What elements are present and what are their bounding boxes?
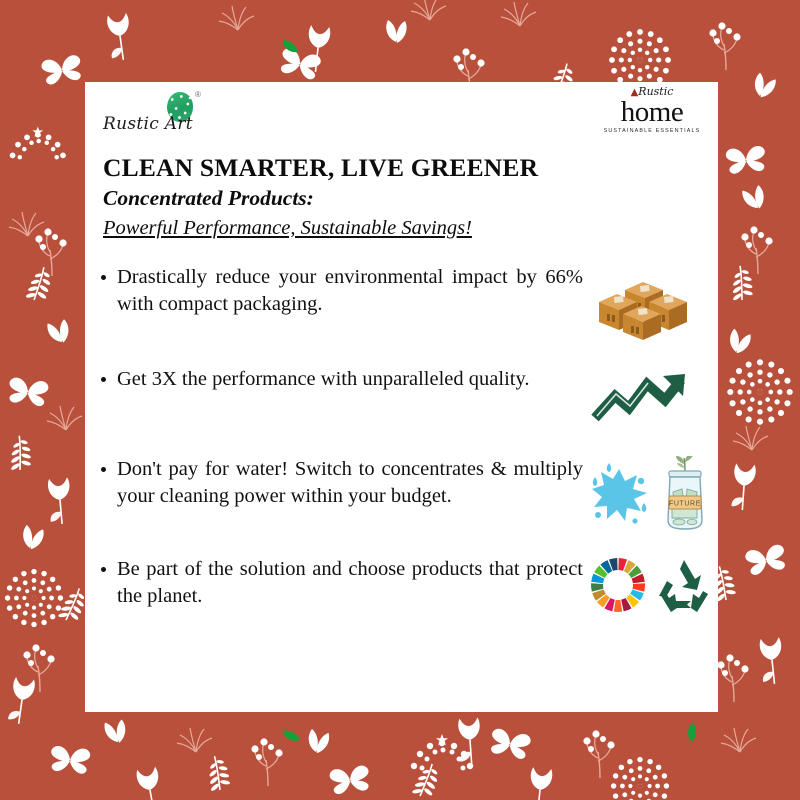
- logo-row: ® Rustic Art ▲Rustic home SUSTAINABLE ES…: [85, 82, 718, 148]
- bullet-dot-icon: [101, 567, 106, 572]
- bullet-text-wrap: Get 3X the performance with unparalleled…: [95, 366, 583, 394]
- poster-canvas: ® Rustic Art ▲Rustic home SUSTAINABLE ES…: [0, 0, 800, 800]
- bullet-text-wrap: Drastically reduce your environmental im…: [95, 264, 583, 320]
- content-card: ® Rustic Art ▲Rustic home SUSTAINABLE ES…: [85, 82, 718, 712]
- bullet-dot-icon: [101, 467, 106, 472]
- list-item: Don't pay for water! Switch to concentra…: [95, 456, 718, 534]
- rustic-art-logo: ® Rustic Art: [103, 90, 213, 144]
- recycling-icon: [653, 556, 715, 614]
- benefits-list: Drastically reduce your environmental im…: [85, 264, 718, 614]
- bullet-text-wrap: Be part of the solution and choose produ…: [95, 556, 583, 612]
- bullet-icons: [583, 556, 718, 614]
- bullet-dot-icon: [101, 377, 106, 382]
- bullet-icons: [583, 264, 718, 340]
- growth-arrow-icon: [589, 366, 697, 430]
- bullet-text-wrap: Don't pay for water! Switch to concentra…: [95, 456, 583, 512]
- bullet-text: Get 3X the performance with unparalleled…: [117, 366, 583, 394]
- list-item: Be part of the solution and choose produ…: [95, 556, 718, 614]
- rustic-home-tagline: SUSTAINABLE ESSENTIALS: [600, 128, 704, 134]
- rustic-art-wordmark: Rustic Art: [103, 114, 193, 134]
- bullet-text: Be part of the solution and choose produ…: [117, 556, 583, 612]
- water-splash-icon: [589, 459, 651, 531]
- cardboard-boxes-icon: [589, 264, 697, 340]
- rustic-home-logo: ▲Rustic home SUSTAINABLE ESSENTIALS: [600, 86, 704, 134]
- savings-jar-icon: FUTURE: [657, 456, 713, 534]
- bullet-dot-icon: [101, 275, 106, 280]
- bullet-icons: [583, 366, 718, 430]
- savings-jar-label: FUTURE: [669, 500, 701, 507]
- page-title: CLEAN SMARTER, LIVE GREENER: [103, 152, 718, 184]
- bullet-text: Don't pay for water! Switch to concentra…: [117, 456, 583, 512]
- registered-mark: ®: [195, 90, 201, 99]
- sdg-wheel-segment: [614, 599, 622, 611]
- rustic-home-wordmark: home: [600, 99, 704, 127]
- subheading: Concentrated Products:: [103, 185, 718, 213]
- list-item: Drastically reduce your environmental im…: [95, 264, 718, 340]
- list-item: Get 3X the performance with unparalleled…: [95, 366, 718, 430]
- bullet-icons: FUTURE: [583, 456, 718, 534]
- bullet-text: Drastically reduce your environmental im…: [117, 264, 583, 320]
- headings-block: CLEAN SMARTER, LIVE GREENER Concentrated…: [85, 148, 718, 242]
- tagline: Powerful Performance, Sustainable Saving…: [103, 215, 718, 242]
- sdg-wheel-icon: [589, 556, 647, 614]
